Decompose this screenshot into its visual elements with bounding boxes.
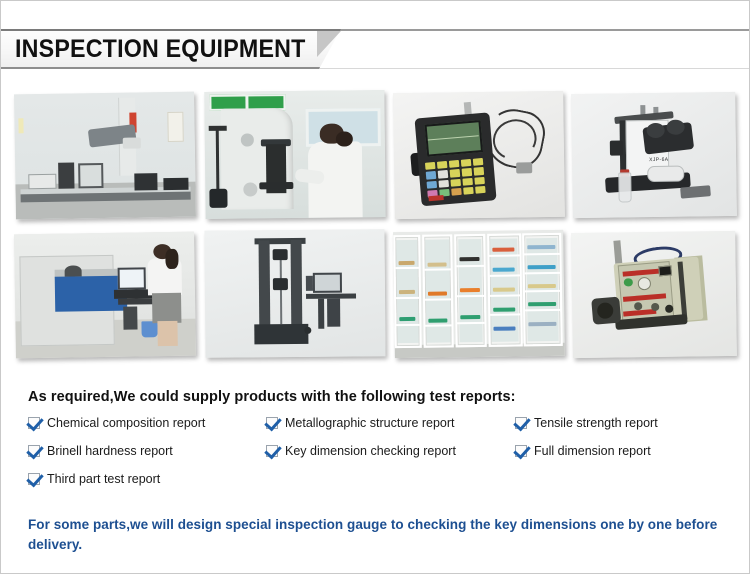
header-arrow-icon — [317, 31, 341, 57]
list-item-label: Metallographic structure report — [285, 416, 455, 430]
photo-cmm-room — [14, 92, 196, 220]
page-header: INSPECTION EQUIPMENT — [1, 29, 750, 73]
list-item[interactable]: Chemical composition report — [28, 416, 205, 430]
list-item[interactable]: Full dimension report — [515, 444, 651, 458]
list-item[interactable]: Third part test report — [28, 472, 160, 486]
list-item[interactable]: Tensile strength report — [515, 416, 658, 430]
photo-hardness-tester — [204, 90, 385, 219]
check-icon — [515, 445, 527, 457]
photo-metallurgical-microscope: XJP-6A — [571, 92, 737, 218]
photo-tensile-testing-machine — [204, 229, 385, 358]
inspection-equipment-page: INSPECTION EQUIPMENT — [0, 0, 750, 574]
page-title: INSPECTION EQUIPMENT — [15, 29, 306, 69]
photo-gauge-storage-cabinets — [393, 230, 565, 358]
checklist-row: Chemical composition report Metallograph… — [28, 416, 728, 444]
check-icon — [28, 445, 40, 457]
test-reports-checklist: Chemical composition report Metallograph… — [28, 416, 728, 500]
reports-lead-text: As required,We could supply products wit… — [28, 389, 516, 405]
list-item-label: Third part test report — [47, 472, 160, 486]
check-icon — [266, 445, 278, 457]
microscope-model-label: XJP-6A — [649, 157, 668, 163]
list-item[interactable]: Key dimension checking report — [266, 444, 456, 458]
check-icon — [266, 417, 278, 429]
photo-ultrasonic-flaw-detector — [393, 91, 565, 219]
list-item-label: Key dimension checking report — [285, 444, 456, 458]
delivery-note: For some parts,we will design special in… — [28, 515, 728, 555]
list-item[interactable]: Brinell hardness report — [28, 444, 173, 458]
photo-magnetic-particle-detector — [571, 231, 737, 358]
check-icon — [28, 473, 40, 485]
list-item-label: Full dimension report — [534, 444, 651, 458]
list-item-label: Tensile strength report — [534, 416, 658, 430]
checklist-row: Third part test report — [28, 472, 728, 500]
list-item-label: Chemical composition report — [47, 416, 205, 430]
checklist-row: Brinell hardness report Key dimension ch… — [28, 444, 728, 472]
list-item-label: Brinell hardness report — [47, 444, 173, 458]
equipment-photo-grid: XJP-6A — [15, 91, 739, 371]
check-icon — [515, 417, 527, 429]
photo-spectrometer — [14, 232, 196, 359]
check-icon — [28, 417, 40, 429]
list-item[interactable]: Metallographic structure report — [266, 416, 455, 430]
